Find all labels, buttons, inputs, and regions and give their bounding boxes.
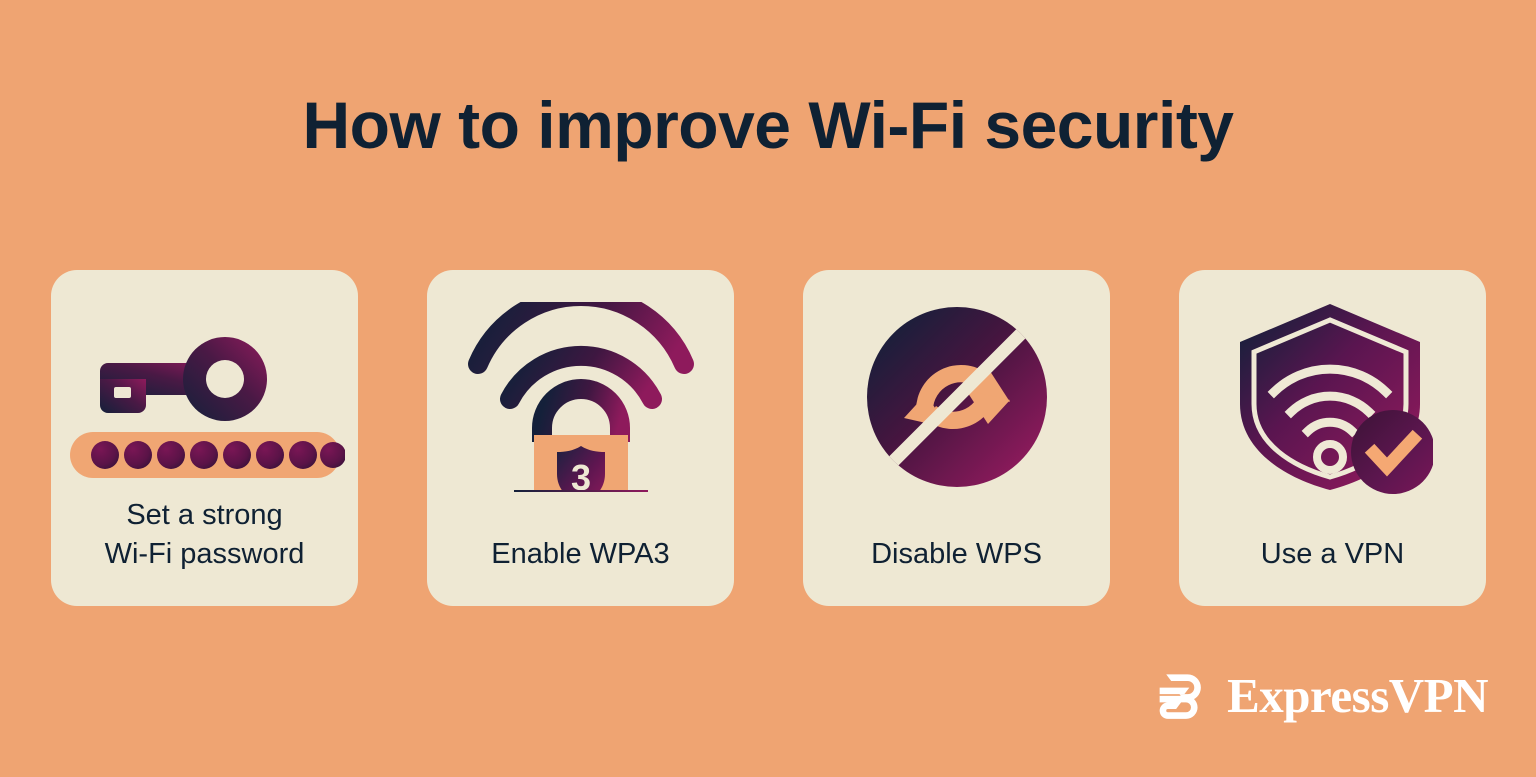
key-glyph [100,337,267,421]
wpa3-shield-badge: 3 [557,446,605,492]
expressvpn-logo[interactable]: ExpressVPN [1158,660,1488,730]
padlock-shackle [542,389,620,442]
password-field-pill [70,432,345,478]
infographic-canvas: How to improve Wi-Fi security [0,0,1536,777]
expressvpn-e-mark [1158,666,1209,724]
padlock-base-bar [514,490,648,492]
card-label: Set a strong Wi-Fi password [51,496,358,574]
key-password-icon [51,302,358,492]
card-label: Use a VPN [1179,535,1486,574]
vpn-check-badge [1351,410,1433,494]
wifi-padlock-wpa3-icon: 3 [427,302,734,492]
card-enable-wpa3[interactable]: 3 Enable WPA3 [427,270,734,606]
card-set-strong-password[interactable]: Set a strong Wi-Fi password [51,270,358,606]
card-label: Enable WPA3 [427,535,734,574]
shield-wifi-check-icon [1179,302,1486,492]
card-label: Disable WPS [803,535,1110,574]
expressvpn-wordmark: ExpressVPN [1227,671,1488,720]
page-title: How to improve Wi-Fi security [0,92,1536,158]
card-use-a-vpn[interactable]: Use a VPN [1179,270,1486,606]
wps-disabled-icon [803,302,1110,492]
wpa3-badge-number: 3 [570,457,590,492]
card-disable-wps[interactable]: Disable WPS [803,270,1110,606]
